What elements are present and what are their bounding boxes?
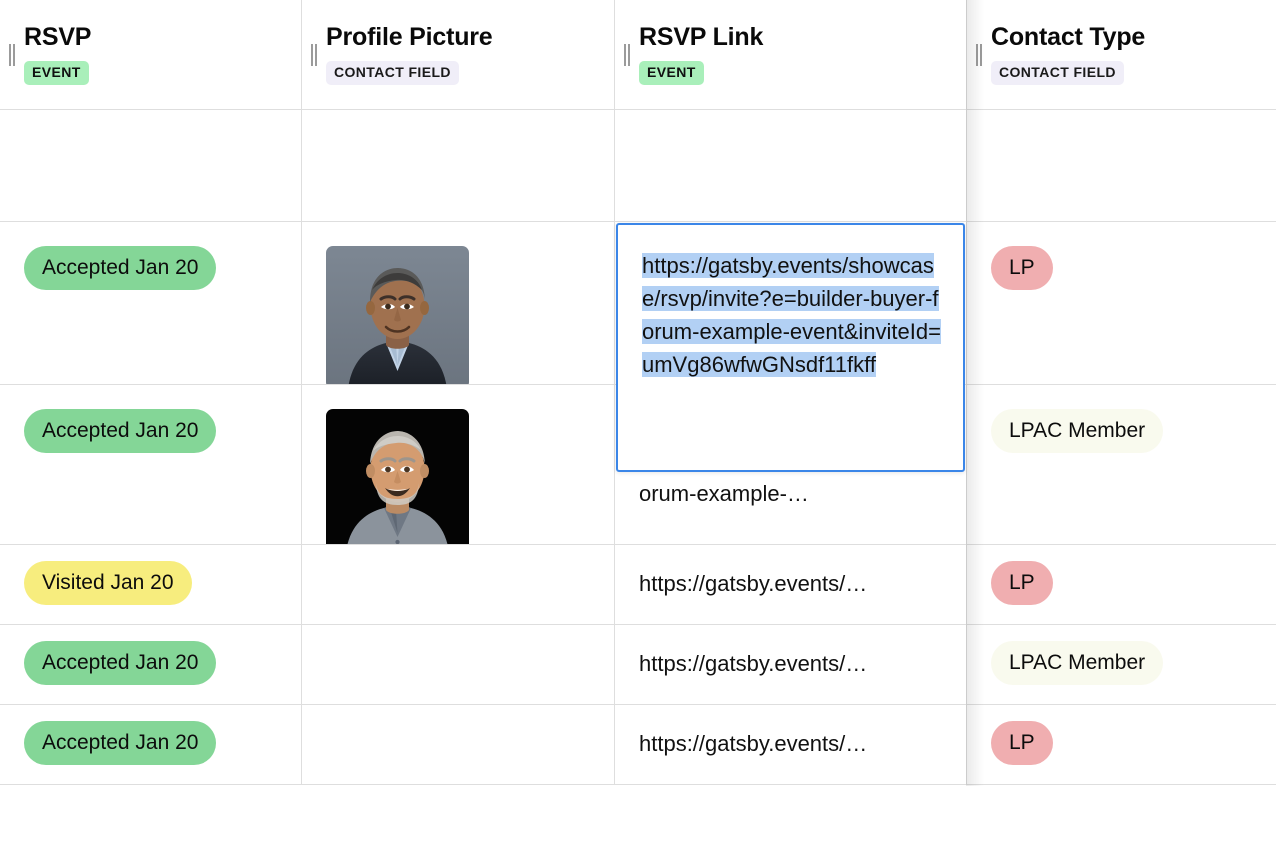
status-badge: Accepted Jan 20 — [24, 721, 216, 765]
column-source-badge: EVENT — [24, 61, 89, 85]
cell-profile-picture[interactable] — [301, 545, 614, 624]
column-drag-handle-icon[interactable] — [624, 44, 631, 66]
data-grid[interactable]: RSVP EVENT Profile Picture CONTACT FIELD… — [0, 0, 1276, 864]
selected-cell-value[interactable]: https://gatsby.events/showcase/rsvp/invi… — [642, 249, 941, 381]
contact-type-badge: LP — [991, 246, 1053, 290]
column-title: Contact Type — [991, 22, 1276, 52]
contact-type-badge: LP — [991, 721, 1053, 765]
cell-rsvp-link[interactable] — [614, 110, 966, 221]
column-source-badge: CONTACT FIELD — [991, 61, 1124, 85]
grid-header-row: RSVP EVENT Profile Picture CONTACT FIELD… — [0, 0, 1276, 110]
cell-profile-picture[interactable] — [301, 110, 614, 221]
table-row[interactable]: Accepted Jan 20 https://gatsby.events/… … — [0, 705, 1276, 785]
table-row[interactable] — [0, 110, 1276, 222]
cell-rsvp[interactable] — [0, 110, 301, 221]
status-badge: Visited Jan 20 — [24, 561, 192, 605]
column-drag-handle-icon[interactable] — [311, 44, 318, 66]
cell-contact-type[interactable]: LPAC Member — [966, 385, 1276, 544]
status-badge: Accepted Jan 20 — [24, 409, 216, 453]
cell-profile-picture[interactable] — [301, 222, 614, 384]
column-source-badge: EVENT — [639, 61, 704, 85]
column-title: Profile Picture — [326, 22, 614, 52]
cell-rsvp[interactable]: Accepted Jan 20 — [0, 385, 301, 544]
column-header-contact-type[interactable]: Contact Type CONTACT FIELD — [966, 0, 1276, 109]
avatar — [326, 246, 469, 384]
cell-rsvp[interactable]: Accepted Jan 20 — [0, 705, 301, 784]
status-badge: Accepted Jan 20 — [24, 246, 216, 290]
cell-profile-picture[interactable] — [301, 625, 614, 704]
cell-contact-type[interactable]: LP — [966, 545, 1276, 624]
cell-contact-type[interactable]: LPAC Member — [966, 625, 1276, 704]
contact-type-badge: LPAC Member — [991, 409, 1163, 453]
column-header-profile-picture[interactable]: Profile Picture CONTACT FIELD — [301, 0, 614, 109]
rsvp-link-text: https://gatsby.events/… — [639, 567, 944, 601]
status-badge: Accepted Jan 20 — [24, 641, 216, 685]
column-title: RSVP Link — [639, 22, 966, 52]
selected-cell-editor[interactable]: https://gatsby.events/showcase/rsvp/invi… — [616, 223, 965, 472]
column-header-rsvp[interactable]: RSVP EVENT — [0, 0, 301, 109]
cell-rsvp-link[interactable]: https://gatsby.events/… — [614, 705, 966, 784]
rsvp-link-text: https://gatsby.events/… — [639, 727, 944, 761]
cell-rsvp-link[interactable]: https://gatsby.events/… — [614, 625, 966, 704]
rsvp-link-text: https://gatsby.events/… — [639, 647, 944, 681]
cell-rsvp[interactable]: Accepted Jan 20 — [0, 625, 301, 704]
cell-rsvp[interactable]: Accepted Jan 20 — [0, 222, 301, 384]
cell-rsvp[interactable]: Visited Jan 20 — [0, 545, 301, 624]
cell-profile-picture[interactable] — [301, 385, 614, 544]
cell-rsvp-link[interactable]: https://gatsby.events/… — [614, 545, 966, 624]
column-header-rsvp-link[interactable]: RSVP Link EVENT — [614, 0, 966, 109]
column-title: RSVP — [24, 22, 301, 52]
table-row[interactable]: Accepted Jan 20 https://gatsby.events/… … — [0, 625, 1276, 705]
avatar — [326, 409, 469, 544]
selected-text-highlight: https://gatsby.events/showcase/rsvp/invi… — [642, 253, 941, 377]
table-row[interactable]: Visited Jan 20 https://gatsby.events/… L… — [0, 545, 1276, 625]
cell-profile-picture[interactable] — [301, 705, 614, 784]
contact-type-badge: LP — [991, 561, 1053, 605]
cell-contact-type[interactable]: LP — [966, 705, 1276, 784]
column-drag-handle-icon[interactable] — [9, 44, 16, 66]
contact-type-badge: LPAC Member — [991, 641, 1163, 685]
column-drag-handle-icon[interactable] — [976, 44, 983, 66]
cell-contact-type[interactable] — [966, 110, 1276, 221]
cell-contact-type[interactable]: LP — [966, 222, 1276, 384]
column-source-badge: CONTACT FIELD — [326, 61, 459, 85]
